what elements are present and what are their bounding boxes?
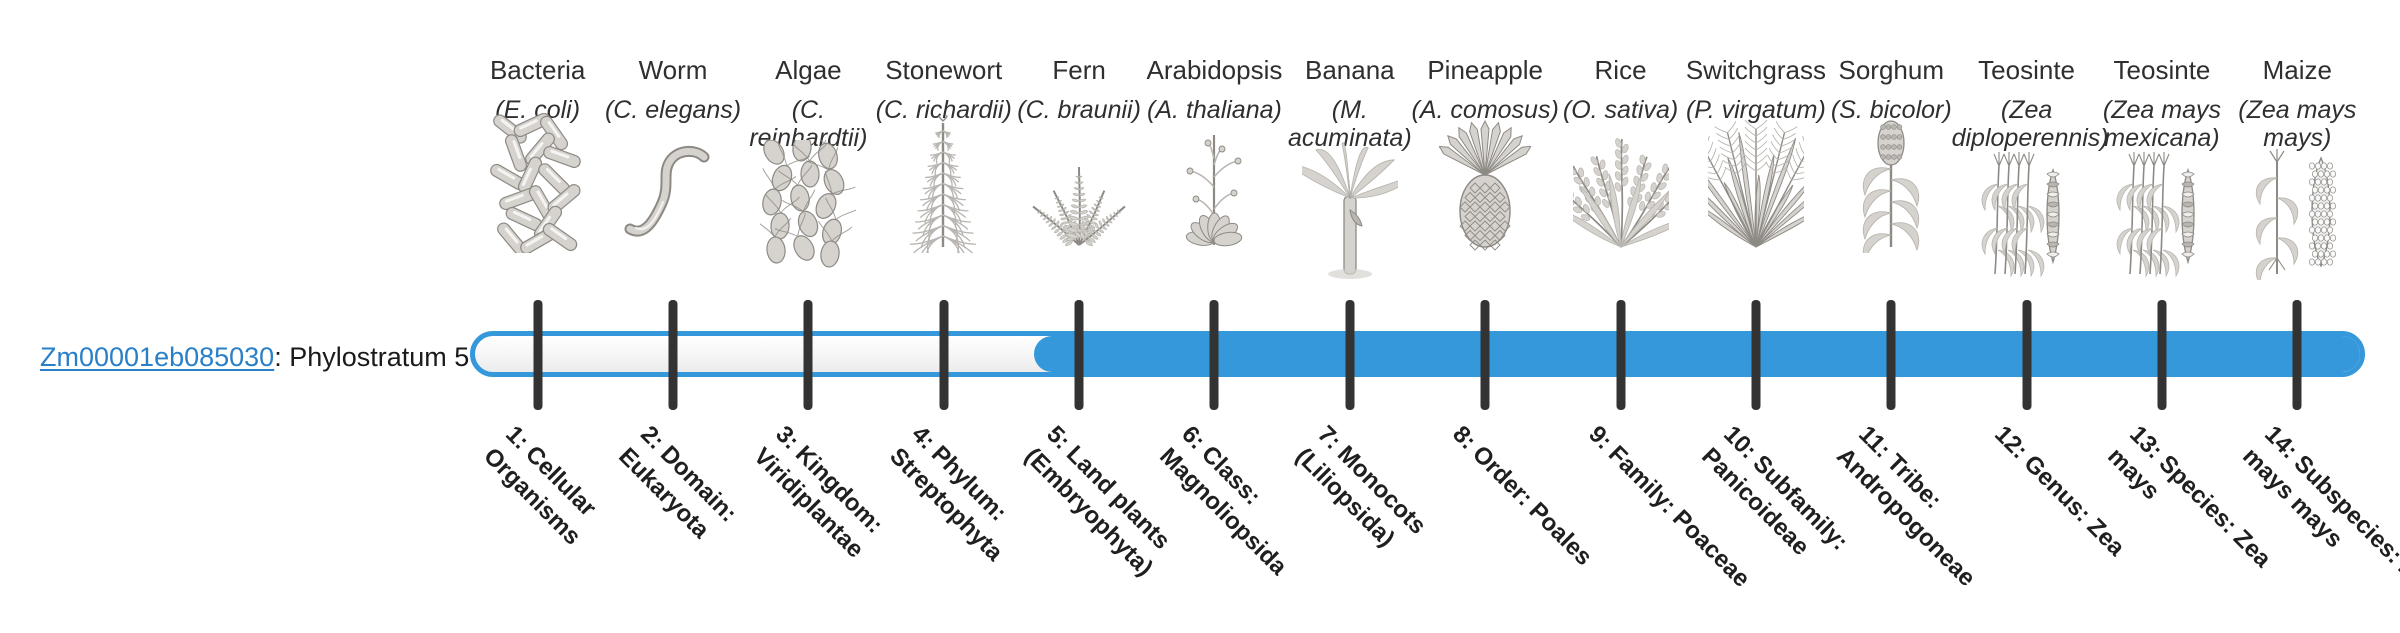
rank-name: Species: Zea mays bbox=[2102, 442, 2276, 572]
species-common-name: Teosinte bbox=[1952, 56, 2102, 85]
rank-number: 14: bbox=[2260, 421, 2304, 465]
phylostratum-rank-label: 14: Subspecies: Zea mays mays bbox=[2236, 420, 2400, 633]
species-common-name: Sorghum bbox=[1816, 56, 1966, 85]
rank-number: 3: bbox=[771, 421, 805, 455]
phylostratum-tick[interactable] bbox=[2157, 300, 2166, 410]
arabidopsis-rosette-illustration bbox=[1139, 133, 1289, 253]
fern-frond-illustration bbox=[1004, 133, 1154, 253]
rank-number: 11: bbox=[1853, 421, 1896, 464]
species-column: Worm(C. elegans) bbox=[598, 56, 748, 253]
stonewort-alga-illustration bbox=[869, 133, 1019, 253]
species-column: Fern(C. braunii) bbox=[1004, 56, 1154, 253]
species-column: Maize(Zea mays mays) bbox=[2222, 56, 2372, 280]
rank-number: 4: bbox=[906, 421, 940, 455]
rank-number: 8: bbox=[1447, 421, 1481, 455]
species-column: Switchgrass(P. virgatum) bbox=[1681, 56, 1831, 253]
phylostratum-rank-label: 12: Genus: Zea bbox=[1987, 420, 2178, 611]
species-column: Teosinte(Zea mays mexicana) bbox=[2087, 56, 2237, 280]
phylostratum-tick[interactable] bbox=[804, 300, 813, 410]
phylostratum-tick[interactable] bbox=[2022, 300, 2031, 410]
species-column: Sorghum(S. bicolor) bbox=[1816, 56, 1966, 253]
rank-name: Class: Magnoliopsida bbox=[1155, 441, 1293, 581]
species-common-name: Arabidopsis bbox=[1139, 56, 1289, 85]
phylostratum-rank-label: 4: Phylum: Streptophyta bbox=[882, 420, 1095, 633]
rank-number: 5: bbox=[1041, 421, 1075, 455]
species-common-name: Banana bbox=[1275, 56, 1425, 85]
phylostratum-rank-label: 7: Monocots (Liliopsida) bbox=[1288, 420, 1501, 633]
progress-bar-track bbox=[470, 331, 2365, 377]
phylostratum-tick[interactable] bbox=[1075, 300, 1084, 410]
phylostratum-rank-label: 2: Domain: Eukaryota bbox=[612, 420, 825, 633]
phylostratum-rank-label: 13: Species: Zea mays bbox=[2101, 420, 2314, 633]
gene-id-link[interactable]: Zm00001eb085030 bbox=[40, 342, 274, 372]
species-common-name: Maize bbox=[2222, 56, 2372, 85]
phylostratum-tick[interactable] bbox=[1616, 300, 1625, 410]
phylostratum-tick[interactable] bbox=[1210, 300, 1219, 410]
phylostratum-rank-label: 6: Class: Magnoliopsida bbox=[1153, 420, 1366, 633]
rank-number: 1: bbox=[500, 421, 534, 455]
species-common-name: Teosinte bbox=[2087, 56, 2237, 85]
phylostratum-tick[interactable] bbox=[939, 300, 948, 410]
phylostratum-tick[interactable] bbox=[669, 300, 678, 410]
teosinte-plant-and-ear-illustration bbox=[1952, 160, 2102, 280]
phylostratum-rank-label: 3: Kingdom: Viridiplantae bbox=[747, 420, 960, 633]
banana-plant-illustration bbox=[1275, 160, 1425, 280]
rank-number: 7: bbox=[1312, 421, 1346, 455]
phylostratum-rank-label: 9: Family: Poaceae bbox=[1581, 420, 1772, 611]
rank-number: 12: bbox=[1989, 421, 2033, 465]
nematode-worm-illustration bbox=[598, 133, 748, 253]
teosinte-mexicana-plant-and-ear-illustration bbox=[2087, 160, 2237, 280]
pineapple-fruit-illustration bbox=[1410, 133, 1560, 253]
phylostratum-rank-label: 5: Land plants (Embryophyta) bbox=[1018, 420, 1231, 633]
rank-name: Subfamily: Panicoideae bbox=[1696, 442, 1853, 560]
species-column: Algae(C. reinhardtii) bbox=[733, 56, 883, 280]
phylostratigraphy-timeline: Zm00001eb085030: Phylostratum 5 Bacteria… bbox=[0, 0, 2400, 580]
species-common-name: Switchgrass bbox=[1681, 56, 1831, 85]
species-common-name: Pineapple bbox=[1410, 56, 1560, 85]
rank-name: Cellular Organisms bbox=[478, 441, 601, 551]
rank-name: Genus: Zea bbox=[2018, 450, 2130, 562]
maize-plant-and-cob-illustration bbox=[2222, 160, 2372, 280]
rank-name: Family: Poaceae bbox=[1603, 441, 1755, 593]
rank-name: Order: Poales bbox=[1467, 441, 1597, 571]
species-common-name: Algae bbox=[733, 56, 883, 85]
species-common-name: Bacteria bbox=[463, 56, 613, 85]
phylostratum-tick[interactable] bbox=[533, 300, 542, 410]
rank-number: 10: bbox=[1718, 421, 1762, 465]
phylostratum-rank-label: 1: Cellular Organisms bbox=[476, 420, 689, 633]
phylostratum-tick[interactable] bbox=[1751, 300, 1760, 410]
species-column: Stonewort(C. richardii) bbox=[869, 56, 1019, 253]
green-algae-cells-illustration bbox=[733, 160, 883, 280]
rank-number: 9: bbox=[1583, 421, 1617, 455]
bacteria-rods-illustration bbox=[463, 133, 613, 253]
rank-name: Domain: Eukaryota bbox=[614, 441, 743, 544]
phylostratum-rank-label: 8: Order: Poales bbox=[1445, 420, 1636, 611]
rank-number: 2: bbox=[635, 421, 669, 455]
gene-label-separator: : bbox=[274, 342, 289, 372]
rank-name: Tribe: Andropogoneae bbox=[1832, 442, 1981, 591]
species-column: Banana(M. acuminata) bbox=[1275, 56, 1425, 280]
species-common-name: Fern bbox=[1004, 56, 1154, 85]
rank-name: Kingdom: Viridiplantae bbox=[749, 441, 889, 564]
sorghum-panicle-illustration bbox=[1816, 133, 1966, 253]
species-column: Rice(O. sativa) bbox=[1546, 56, 1696, 253]
species-column: Bacteria(E. coli) bbox=[463, 56, 613, 253]
phylostratum-tick[interactable] bbox=[2293, 300, 2302, 410]
rank-name: Phylum: Streptophyta bbox=[884, 441, 1012, 567]
species-common-name: Stonewort bbox=[869, 56, 1019, 85]
species-scientific-name: (C. elegans) bbox=[598, 97, 748, 125]
phylostratum-tick[interactable] bbox=[1887, 300, 1896, 410]
species-header-track: Bacteria(E. coli)Worm(C. elegans) Algae(… bbox=[0, 0, 2400, 320]
phylostratum-value: Phylostratum 5 bbox=[289, 342, 469, 372]
gene-phylostratum-label: Zm00001eb085030: Phylostratum 5 bbox=[40, 341, 469, 373]
species-column: Teosinte(Zea diploperennis) bbox=[1952, 56, 2102, 280]
phylostratum-tick[interactable] bbox=[1481, 300, 1490, 410]
rank-name: Land plants (Embryophyta) bbox=[1020, 441, 1176, 582]
species-common-name: Worm bbox=[598, 56, 748, 85]
rank-number: 13: bbox=[2124, 421, 2168, 465]
switchgrass-clump-illustration bbox=[1681, 133, 1831, 253]
rice-plant-illustration bbox=[1546, 133, 1696, 253]
phylostratum-rank-label: 10: Subfamily: Panicoideae bbox=[1694, 420, 1907, 633]
species-column: Arabidopsis(A. thaliana) bbox=[1139, 56, 1289, 253]
species-common-name: Rice bbox=[1546, 56, 1696, 85]
species-column: Pineapple(A. comosus) bbox=[1410, 56, 1560, 253]
rank-name: Subspecies: Zea mays mays bbox=[2238, 442, 2400, 603]
phylostratum-rank-label: 11: Tribe: Andropogoneae bbox=[1830, 420, 2043, 633]
rank-number: 6: bbox=[1177, 421, 1211, 455]
rank-name: Monocots (Liliopsida) bbox=[1290, 441, 1431, 553]
phylostratum-tick[interactable] bbox=[1345, 300, 1354, 410]
phylostratum-progress-bar[interactable] bbox=[470, 331, 2365, 377]
